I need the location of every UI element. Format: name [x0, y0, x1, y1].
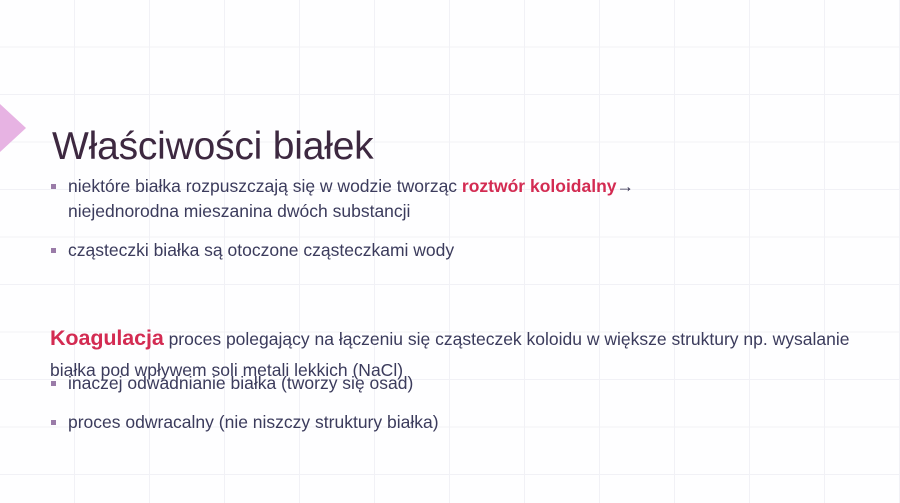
bullet-text: proces odwracalny (nie niszczy struktury… — [68, 412, 439, 432]
bullet-square-icon — [51, 184, 56, 189]
bullet-tail-text: niejednorodna mieszanina dwóch substancj… — [68, 201, 410, 221]
bullet-square-icon — [51, 248, 56, 253]
bullet-text: inaczej odwadnianie białka (tworzy się o… — [68, 373, 413, 393]
slide-canvas: Właściwości białek niektóre białka rozpu… — [0, 0, 900, 503]
bullet-lead-text: niektóre białka rozpuszczają się w wodzi… — [68, 176, 462, 196]
page-title: Właściwości białek — [52, 125, 373, 170]
definition-term: Koagulacja — [50, 326, 164, 350]
bullet-list-bottom: inaczej odwadnianie białka (tworzy się o… — [46, 371, 866, 435]
list-item: cząsteczki białka są otoczone cząsteczka… — [46, 238, 866, 263]
list-item: inaczej odwadnianie białka (tworzy się o… — [46, 371, 866, 396]
slide-content: Właściwości białek niektóre białka rozpu… — [0, 0, 900, 503]
list-item: niektóre białka rozpuszczają się w wodzi… — [46, 174, 866, 224]
bullet-text: cząsteczki białka są otoczone cząsteczka… — [68, 240, 454, 260]
list-item: proces odwracalny (nie niszczy struktury… — [46, 410, 866, 435]
bullet-list-top: niektóre białka rozpuszczają się w wodzi… — [46, 174, 866, 263]
arrow-right-icon: → — [617, 176, 635, 196]
highlight-term: roztwór koloidalny — [462, 176, 617, 196]
bullet-square-icon — [51, 381, 56, 386]
bullet-square-icon — [51, 420, 56, 425]
